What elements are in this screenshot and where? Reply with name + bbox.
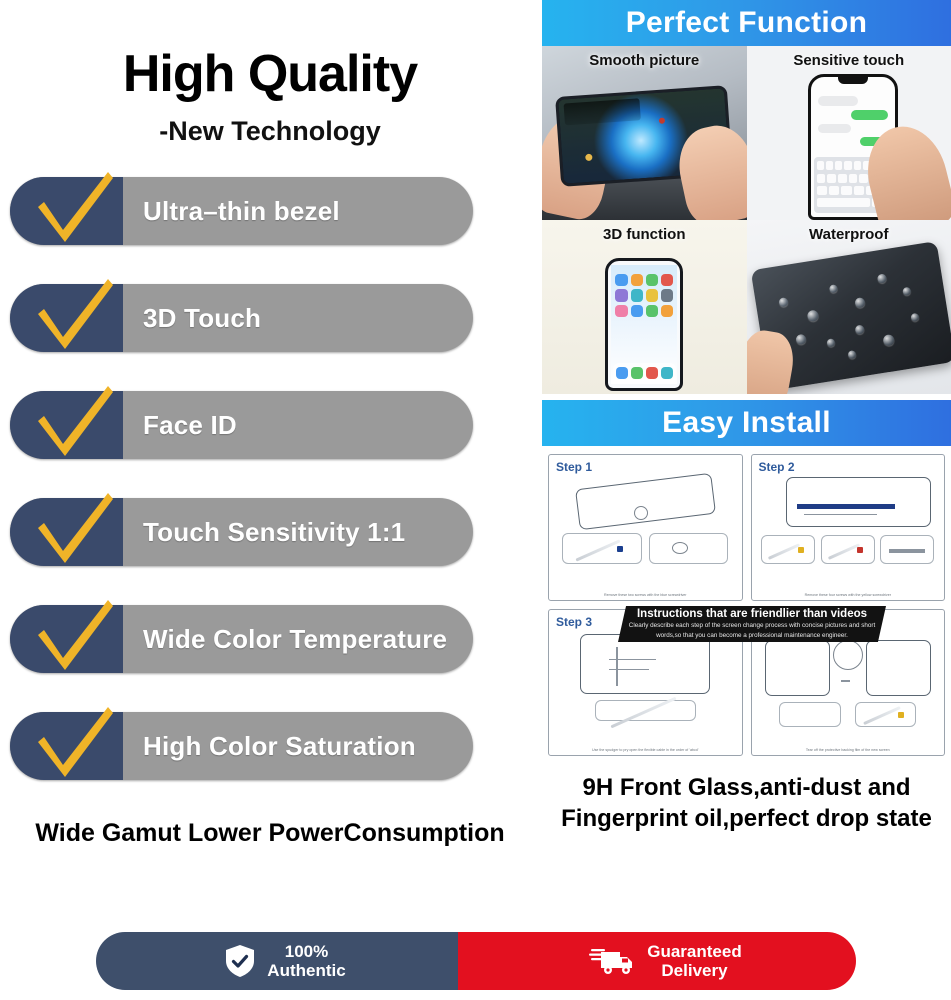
function-grid: Smooth picture: [542, 46, 951, 394]
feature-pill: Touch Sensitivity 1:1: [10, 498, 473, 566]
chat-phone-photo: [747, 46, 951, 220]
left-caption: Wide Gamut Lower PowerConsumption: [0, 819, 540, 848]
badge-line-2: Authentic: [267, 961, 345, 980]
feature-pill: 3D Touch: [10, 284, 473, 352]
right-caption: 9H Front Glass,anti-dust and Fingerprint…: [542, 772, 951, 834]
install-step-box: Step 2 Rem: [751, 454, 946, 601]
badge-line-1: 100%: [267, 942, 345, 961]
function-cell-label: 3D function: [542, 226, 747, 243]
left-feature-column: High Quality -New Technology Ultra–thin …: [0, 0, 540, 910]
home-screen-phone-photo: [542, 220, 747, 394]
function-cell-label: Sensitive touch: [747, 52, 951, 69]
authentic-badge: 100% Authentic: [96, 932, 476, 990]
function-cell-waterproof: Waterproof: [747, 220, 951, 394]
feature-label: Face ID: [143, 410, 237, 441]
function-cell-label: Smooth picture: [542, 52, 747, 69]
delivery-truck-icon: [589, 946, 635, 976]
delivery-badge-text: Guaranteed Delivery: [647, 942, 741, 980]
install-section: Easy Install Step 1 Remove these two scr…: [542, 400, 951, 764]
step-label: Step 1: [556, 460, 592, 474]
delivery-badge: Guaranteed Delivery: [458, 932, 856, 990]
check-icon: [32, 169, 118, 245]
badge-line-2: Delivery: [647, 961, 741, 980]
step-label: Step 2: [759, 460, 795, 474]
right-showcase-column: Perfect Function Smooth picture: [542, 0, 951, 895]
step-micro-caption: Tear off the protective backing film of …: [756, 748, 941, 753]
step-micro-caption: Remove these four screws with the yellow…: [756, 593, 941, 598]
step-micro-caption: Use the spudger to pry open the flexible…: [553, 748, 738, 753]
step-diagram: [555, 630, 736, 727]
instruction-banner: Instructions that are friendlier than vi…: [618, 606, 886, 642]
feature-pill: High Color Saturation: [10, 712, 473, 780]
page-title: High Quality: [0, 48, 540, 100]
feature-pill: Ultra–thin bezel: [10, 177, 473, 245]
step-diagram: [758, 630, 939, 727]
feature-pill: Face ID: [10, 391, 473, 459]
page-subtitle: -New Technology: [0, 116, 540, 147]
feature-label: Wide Color Temperature: [143, 624, 447, 655]
feature-pill: Wide Color Temperature: [10, 605, 473, 673]
function-cell-label: Waterproof: [747, 226, 951, 243]
function-cell-3d-function: 3D function: [542, 220, 747, 394]
trust-badge-bar: 100% Authentic Guaranteed Delivery: [0, 922, 951, 1000]
check-icon: [32, 383, 118, 459]
check-icon: [32, 704, 118, 780]
install-steps-grid: Step 1 Remove these two screws with the …: [542, 446, 951, 764]
install-step-box: Step 1 Remove these two screws with the …: [548, 454, 743, 601]
check-icon: [32, 490, 118, 566]
step-diagram: [555, 475, 736, 572]
check-icon: [32, 276, 118, 352]
step-micro-caption: Remove these two screws with the blue sc…: [553, 593, 738, 598]
badge-line-1: Guaranteed: [647, 942, 741, 961]
banner-title: Easy Install: [662, 406, 831, 440]
right-caption-line-1: 9H Front Glass,anti-dust and: [542, 772, 951, 803]
banner-title: Perfect Function: [626, 6, 868, 40]
feature-label: Ultra–thin bezel: [143, 196, 340, 227]
right-caption-line-2: Fingerprint oil,perfect drop state: [542, 803, 951, 834]
step-diagram: [758, 475, 939, 572]
gaming-phone-photo: [542, 46, 747, 220]
easy-install-banner: Easy Install: [542, 400, 951, 446]
function-cell-smooth-picture: Smooth picture: [542, 46, 747, 220]
instruction-title: Instructions that are friendlier than vi…: [637, 608, 867, 620]
check-icon: [32, 597, 118, 673]
feature-label: Touch Sensitivity 1:1: [143, 517, 405, 548]
function-cell-sensitive-touch: Sensitive touch: [747, 46, 951, 220]
feature-label: 3D Touch: [143, 303, 261, 334]
feature-list: Ultra–thin bezel 3D Touch Face ID Touch …: [0, 177, 540, 780]
authentic-badge-text: 100% Authentic: [267, 942, 345, 980]
step-label: Step 3: [556, 615, 592, 629]
perfect-function-banner: Perfect Function: [542, 0, 951, 46]
instruction-body: Clearly describe each step of the screen…: [628, 621, 876, 639]
shield-check-icon: [225, 944, 255, 978]
waterproof-phone-photo: [747, 220, 951, 394]
feature-label: High Color Saturation: [143, 731, 416, 762]
